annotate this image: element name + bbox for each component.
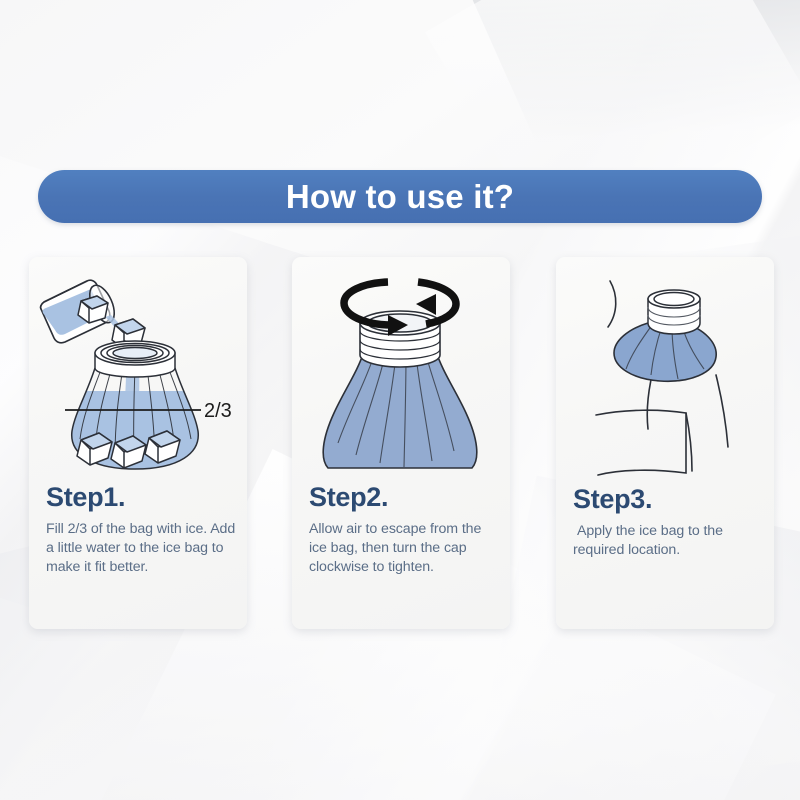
step-card-3: Step3. Apply the ice bag to the required… <box>556 257 774 629</box>
step-title: Step1. <box>46 483 237 511</box>
step-card-1: 2/3 Step1. Fill 2/3 of the bag with ice.… <box>29 257 247 629</box>
step-description: Fill 2/3 of the bag with ice. Add a litt… <box>46 520 237 577</box>
step-card-3-text: Step3. Apply the ice bag to the required… <box>573 485 764 560</box>
step-title: Step2. <box>309 483 500 511</box>
step-card-1-text: Step1. Fill 2/3 of the bag with ice. Add… <box>46 483 237 577</box>
pouring-ice-into-bag-illustration: 2/3 <box>29 263 247 485</box>
tightening-cap-illustration <box>292 263 510 485</box>
background-streak-top-right <box>463 0 800 279</box>
fill-level-label: 2/3 <box>204 400 232 422</box>
bag-cap-ring <box>648 290 700 334</box>
step-description: Allow air to escape from the ice bag, th… <box>309 520 500 577</box>
ice-bag-filled <box>323 351 477 468</box>
applying-bag-to-body-illustration <box>556 263 774 485</box>
bag-cap-ring <box>95 341 175 377</box>
page-title: How to use it? <box>286 180 514 213</box>
step-title: Step3. <box>573 485 764 513</box>
step-description: Apply the ice bag to the required locati… <box>573 522 764 560</box>
step-card-2: Step2. Allow air to escape from the ice … <box>292 257 510 629</box>
step-card-2-text: Step2. Allow air to escape from the ice … <box>309 483 500 577</box>
title-banner: How to use it? <box>38 170 762 223</box>
